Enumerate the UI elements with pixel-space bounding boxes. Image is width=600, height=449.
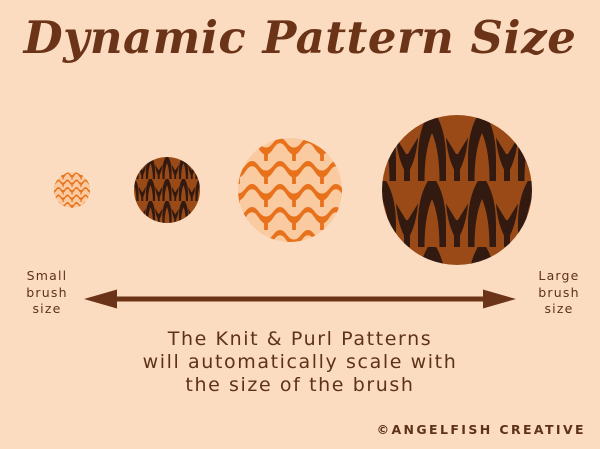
knit-pattern-large-icon — [382, 115, 532, 265]
small-label-line-1: Small — [10, 268, 84, 285]
small-brush-size-label: Small brush size — [10, 268, 84, 318]
small-swatch — [134, 157, 200, 223]
page-title: Dynamic Pattern Size — [0, 8, 600, 69]
purl-pattern-tiny-icon — [54, 172, 90, 208]
large-label-line-3: size — [522, 301, 596, 318]
smallest-swatch — [54, 172, 90, 208]
description-line-2: will automatically scale with — [0, 351, 600, 374]
description-line-3: the size of the brush — [0, 374, 600, 397]
small-label-line-3: size — [10, 301, 84, 318]
credit-watermark: ©ANGELFISH CREATIVE — [377, 422, 586, 437]
description-line-1: The Knit & Purl Patterns — [0, 328, 600, 351]
small-label-line-2: brush — [10, 285, 84, 302]
large-swatch — [382, 115, 532, 265]
description-text: The Knit & Purl Patterns will automatica… — [0, 328, 600, 397]
large-brush-size-label: Large brush size — [522, 268, 596, 318]
knit-pattern-small-icon — [134, 157, 200, 223]
poster-canvas: Dynamic Pattern Size — [0, 0, 600, 449]
purl-pattern-medium-icon — [238, 138, 342, 242]
scale-axis: Small brush size Large brush size — [0, 268, 600, 326]
large-label-line-1: Large — [522, 268, 596, 285]
medium-swatch — [238, 138, 342, 242]
large-label-line-2: brush — [522, 285, 596, 302]
double-headed-arrow-icon — [84, 288, 516, 310]
